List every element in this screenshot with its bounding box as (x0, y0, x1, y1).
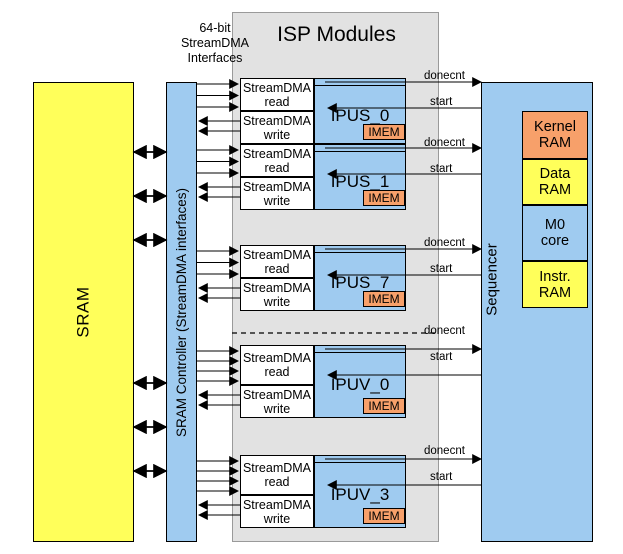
connector-overlay (0, 0, 623, 554)
diagram-canvas: ISP Modules 64-bit StreamDMA Interfaces … (0, 0, 623, 554)
